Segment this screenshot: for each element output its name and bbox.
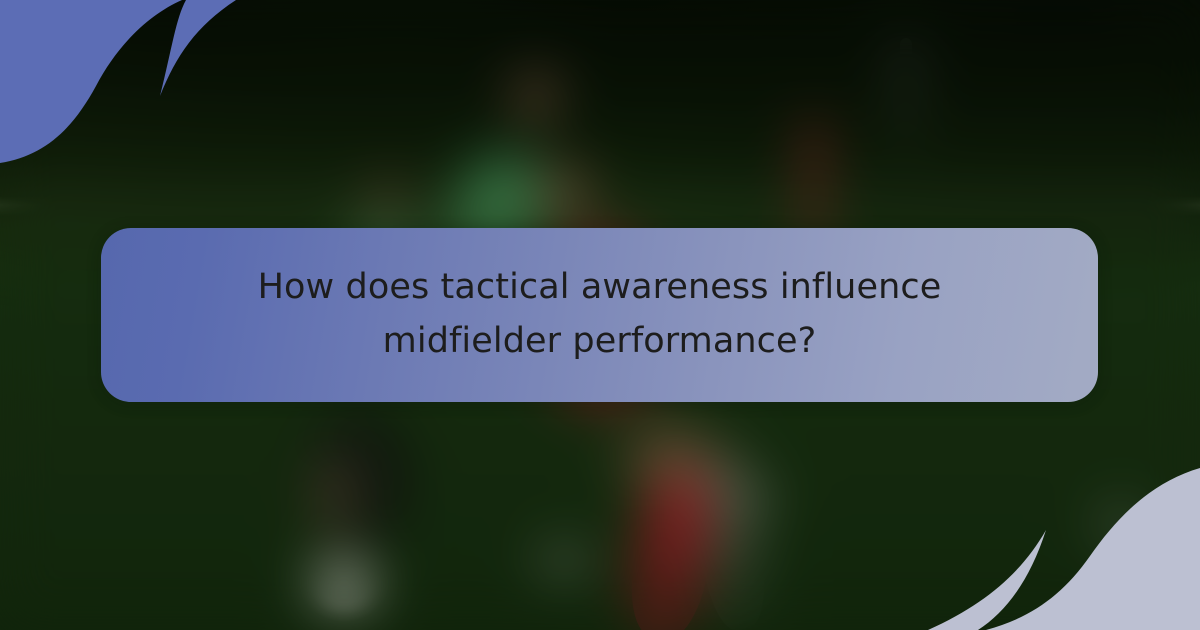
question-card: How does tactical awareness influence mi…: [101, 228, 1098, 402]
screenshot-canvas: How does tactical awareness influence mi…: [0, 0, 1200, 630]
question-text: How does tactical awareness influence mi…: [190, 261, 1010, 369]
